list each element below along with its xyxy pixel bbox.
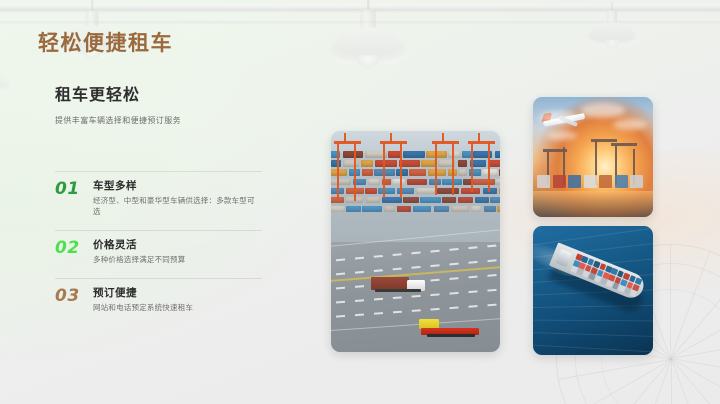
shipping-container xyxy=(368,179,380,186)
shipping-container xyxy=(471,206,481,212)
shipping-container xyxy=(499,188,500,194)
truck-silhouette xyxy=(537,175,550,188)
gantry-crane-beam xyxy=(468,141,495,144)
fan-spoke xyxy=(670,270,720,359)
truck-wheels xyxy=(427,334,475,337)
fan-spoke xyxy=(671,358,720,404)
fan-spoke xyxy=(671,301,720,359)
crane-boom-silhouette xyxy=(543,149,567,152)
cloud xyxy=(539,111,577,124)
fan-spoke xyxy=(671,359,672,404)
fan-spoke xyxy=(671,358,720,379)
shipping-container xyxy=(413,206,431,212)
shipping-container xyxy=(407,179,426,186)
gantry-crane xyxy=(435,143,437,195)
shipping-container xyxy=(495,151,500,158)
gantry-crane xyxy=(471,143,473,192)
shipping-container xyxy=(362,206,382,212)
gantry-crane xyxy=(354,143,356,201)
shipping-container xyxy=(343,160,359,167)
shipping-container xyxy=(388,151,401,158)
gantry-crane xyxy=(400,143,402,198)
gantry-crane-beam xyxy=(380,141,407,144)
shipping-container xyxy=(458,169,467,176)
cloud xyxy=(547,131,577,140)
feature-title: 价格灵活 xyxy=(93,237,305,252)
gantry-crane-mast xyxy=(442,133,444,143)
list-divider xyxy=(55,230,262,231)
shipping-container xyxy=(448,151,461,158)
ceiling-rail xyxy=(0,4,720,13)
shipping-container xyxy=(499,169,500,176)
shipping-container xyxy=(343,151,363,158)
shipping-container xyxy=(475,197,490,203)
shipping-container xyxy=(384,206,395,212)
feature-title: 预订便捷 xyxy=(93,285,305,300)
list-item: 01 车型多样 经济型、中型和豪华型车辆供选择：多款车型可选 xyxy=(55,178,305,218)
shipping-container xyxy=(397,206,411,212)
truck-silhouette xyxy=(630,175,643,188)
container-port-highway-photo xyxy=(331,131,500,352)
shipping-container xyxy=(366,197,380,203)
shipping-container xyxy=(458,160,468,167)
list-item: 03 预订便捷 网站和电话预定系统快速租车 xyxy=(55,285,305,314)
shipping-container xyxy=(392,179,405,186)
list-item: 02 价格灵活 多种价格选择满足不同预算 xyxy=(55,237,305,266)
shipping-container xyxy=(331,179,351,186)
shipping-container xyxy=(473,179,495,186)
shipping-container xyxy=(437,188,459,194)
fan-spoke xyxy=(671,359,711,404)
shipping-container xyxy=(421,160,436,167)
truck-silhouette xyxy=(568,175,581,188)
cloud xyxy=(581,103,625,118)
feature-title: 车型多样 xyxy=(93,178,305,193)
gantry-crane xyxy=(383,143,385,198)
fan-spoke xyxy=(597,359,672,404)
feature-description: 经济型、中型和豪华型车辆供选择：多款车型可选 xyxy=(93,196,261,218)
feature-list: 01 车型多样 经济型、中型和豪华型车辆供选择：多款车型可选 02 价格灵活 多… xyxy=(55,178,305,333)
truck-silhouette xyxy=(553,175,566,188)
feature-number: 01 xyxy=(55,179,80,199)
shipping-container xyxy=(361,160,372,167)
shipping-container xyxy=(362,169,374,176)
shipping-container xyxy=(346,206,361,212)
truck-silhouette xyxy=(599,175,612,188)
shipping-container xyxy=(451,206,469,212)
fan-spoke xyxy=(671,358,720,404)
fan-spoke xyxy=(671,338,720,359)
fan-spoke xyxy=(632,359,672,404)
truck xyxy=(419,319,481,337)
shipping-container xyxy=(495,179,500,186)
shipping-container xyxy=(416,188,436,194)
feature-number: 02 xyxy=(55,238,80,258)
cloud xyxy=(613,119,647,130)
gantry-crane-mast xyxy=(390,133,392,143)
shipping-container xyxy=(403,197,419,203)
crane-boom-silhouette xyxy=(611,143,637,146)
ceiling-rail-secondary xyxy=(0,19,720,24)
list-divider xyxy=(55,171,262,172)
truck-silhouette xyxy=(584,175,597,188)
shipping-container xyxy=(409,169,426,176)
fan-spoke xyxy=(558,359,671,380)
fan-spoke xyxy=(670,244,671,359)
presentation-slide: 轻松便捷租车 租车更轻松 提供丰富车辆选择和便捷预订服务 01 车型多样 经济型… xyxy=(0,0,720,404)
truck-wheels xyxy=(375,289,421,292)
gantry-crane-beam xyxy=(334,141,361,144)
shipping-container xyxy=(442,197,456,203)
shipping-container xyxy=(484,206,496,212)
container-ship-ocean-photo xyxy=(533,226,653,355)
feature-number: 03 xyxy=(55,286,80,306)
shipping-container xyxy=(331,206,345,212)
list-divider xyxy=(55,278,262,279)
gantry-crane xyxy=(452,143,454,195)
shipping-container xyxy=(365,188,377,194)
crane-boom-silhouette xyxy=(591,139,617,142)
gantry-crane-mast xyxy=(478,133,480,143)
gantry-crane xyxy=(488,143,490,192)
shipping-container xyxy=(497,206,500,212)
fan-spoke xyxy=(670,251,710,359)
fan-spoke xyxy=(571,359,671,404)
shipping-container xyxy=(403,151,425,158)
shipping-container xyxy=(420,197,441,203)
shipping-container xyxy=(490,197,500,203)
shipping-container xyxy=(375,160,397,167)
section-subtitle: 租车更轻松 xyxy=(55,81,140,105)
section-lede: 提供丰富车辆选择和便捷预订服务 xyxy=(55,115,181,126)
truck-silhouette xyxy=(615,175,628,188)
shipping-container xyxy=(378,188,394,194)
air-freight-sunset-photo xyxy=(533,97,653,217)
shipping-container xyxy=(458,197,473,203)
truck xyxy=(371,277,427,293)
gantry-crane xyxy=(337,143,339,201)
page-title: 轻松便捷租车 xyxy=(38,27,173,57)
feature-description: 多种价格选择满足不同预算 xyxy=(93,255,261,266)
gantry-crane-mast xyxy=(344,133,346,143)
gantry-crane-beam xyxy=(432,141,459,144)
shipping-container xyxy=(434,206,449,212)
feature-description: 网站和电话预定系统快速租车 xyxy=(93,303,261,314)
